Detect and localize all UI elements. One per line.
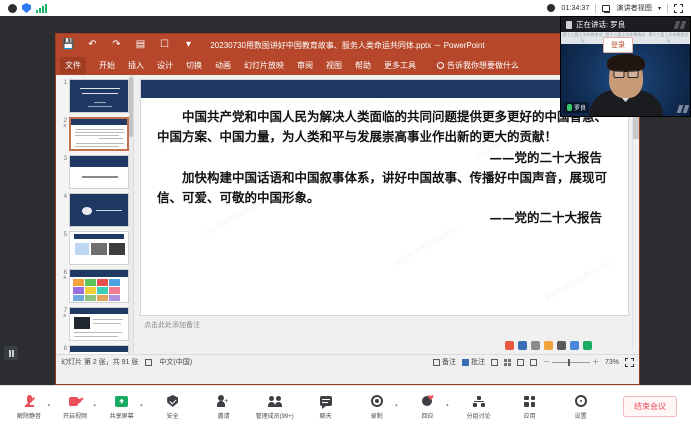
speaker-video-header: 正在讲话: 罗良 bbox=[561, 17, 690, 32]
apps-button[interactable]: 应用 bbox=[513, 394, 547, 420]
undo-icon[interactable]: ↶ bbox=[86, 39, 99, 52]
signal-icon[interactable] bbox=[36, 4, 47, 13]
ribbon-tab-animations[interactable]: 动画 bbox=[215, 60, 231, 71]
chat-button[interactable]: 聊天 bbox=[309, 394, 343, 420]
chevron-up-icon[interactable]: ▴ bbox=[140, 402, 143, 408]
zoom-slider[interactable]: － ＋ bbox=[543, 357, 599, 367]
breakout-rooms-icon bbox=[473, 394, 485, 409]
ribbon-tab-transitions[interactable]: 切换 bbox=[186, 60, 202, 71]
app-left-strip bbox=[0, 16, 55, 385]
share-screen-icon bbox=[115, 394, 128, 409]
ribbon-tab-bar: 文件 开始 插入 设计 切换 动画 幻灯片放映 审阅 视图 帮助 更多工具 告诉… bbox=[56, 56, 639, 75]
ribbon-tab-more-tools[interactable]: 更多工具 bbox=[384, 60, 416, 71]
system-bar-right-controls: 01:34:37 演讲者视图 ▾ bbox=[547, 3, 691, 13]
thumbnail-item-6[interactable]: 6★ bbox=[58, 269, 131, 303]
slide-counter: 幻灯片 第 2 张，共 91 张 bbox=[61, 357, 138, 367]
thumbnail-preview[interactable] bbox=[69, 231, 129, 265]
save-icon[interactable]: 💾 bbox=[62, 39, 75, 52]
more-icon[interactable]: ▾ bbox=[182, 39, 195, 52]
sign-in-button[interactable]: 登录 bbox=[603, 37, 633, 53]
shield-icon[interactable] bbox=[22, 3, 31, 13]
notes-label: 备注 bbox=[442, 357, 456, 367]
divider bbox=[595, 4, 596, 13]
star-icon: ★ bbox=[58, 276, 67, 281]
redo-icon[interactable]: ↷ bbox=[110, 39, 123, 52]
screen-root: 01:34:37 演讲者视图 ▾ 💾 ↶ ↷ ▤ ☐ ▾ 20230730用数图… bbox=[0, 0, 691, 427]
powerpoint-status-bar: 幻灯片 第 2 张，共 91 张 中文(中国) 备注 批注 bbox=[56, 354, 639, 369]
video-layout-icon[interactable] bbox=[675, 21, 685, 29]
chevron-up-icon[interactable]: ▴ bbox=[446, 402, 449, 408]
notes-placeholder[interactable]: 点击此处添加备注 bbox=[140, 320, 629, 330]
security-label: 安全 bbox=[167, 411, 179, 420]
system-status-bar: 01:34:37 演讲者视图 ▾ bbox=[0, 0, 691, 16]
divider bbox=[667, 4, 668, 13]
present-icon[interactable]: ▤ bbox=[134, 39, 147, 52]
speaking-label: 正在讲话: 罗良 bbox=[576, 19, 625, 30]
thumbnail-item-1[interactable]: 1 bbox=[58, 79, 131, 113]
share-screen-button[interactable]: 共享屏幕 ▴ bbox=[105, 394, 139, 420]
thumbnail-number: 5 bbox=[58, 231, 67, 238]
thumbnail-number: 4 bbox=[58, 193, 67, 200]
slide-editing-area: 教育部教育管理信息中心 教育部教育管理信息中心 教育部教育管理信息中心 教育部教… bbox=[134, 75, 639, 369]
ribbon-tab-file[interactable]: 文件 bbox=[60, 57, 86, 74]
ribbon-tab-design[interactable]: 设计 bbox=[157, 60, 173, 71]
participants-label: 管理成员(99+) bbox=[256, 411, 294, 420]
video-corner-marks bbox=[678, 105, 688, 113]
camera-off-icon bbox=[69, 394, 82, 409]
slide-attribution-1: ——党的二十大报告 bbox=[157, 148, 612, 168]
meeting-controls-center: 共享屏幕 ▴ 安全 + 邀请 管理成员(99+) bbox=[105, 394, 598, 420]
clock-icon bbox=[547, 4, 555, 12]
video-banner-text: 第十三届上半年教育论坛 bbox=[647, 32, 690, 44]
zoom-level[interactable]: 73% bbox=[605, 359, 619, 366]
language-indicator[interactable]: 中文(中国) bbox=[159, 357, 192, 367]
quick-access-toolbar: 💾 ↶ ↷ ▤ ☐ ▾ bbox=[62, 39, 195, 52]
thumbnail-number: 2★ bbox=[58, 117, 67, 129]
chevron-up-icon[interactable]: ▴ bbox=[47, 402, 50, 408]
invite-button[interactable]: + 邀请 bbox=[207, 394, 241, 420]
status-right-controls: 备注 批注 － ＋ 73% bbox=[433, 357, 634, 367]
shield-icon bbox=[167, 394, 178, 409]
chat-icon bbox=[320, 394, 332, 409]
participants-icon bbox=[268, 394, 282, 409]
thumbnail-number: 3 bbox=[58, 155, 67, 162]
start-video-label: 开启视频 bbox=[63, 411, 87, 420]
slide-attribution-2: ——党的二十大报告 bbox=[157, 208, 612, 228]
slide-vertical-scrollbar[interactable]: ▲ bbox=[632, 79, 638, 347]
apps-icon bbox=[524, 394, 535, 409]
chevron-down-icon[interactable]: ▾ bbox=[658, 5, 661, 12]
participant-name: 罗良 bbox=[574, 103, 586, 112]
zoom-handle[interactable] bbox=[568, 359, 570, 366]
comments-label: 批注 bbox=[471, 357, 485, 367]
info-icon[interactable] bbox=[8, 4, 17, 13]
video-banner-text: 第十三届上半年教育论坛 bbox=[561, 32, 604, 44]
system-bar-left-icons bbox=[0, 3, 47, 13]
meeting-controls-left: 解除静音 ▴ 开启视频 ▴ bbox=[0, 394, 92, 420]
apps-label: 应用 bbox=[524, 411, 536, 420]
punctuation-icon[interactable] bbox=[531, 341, 540, 350]
floating-annotation-toolbar[interactable] bbox=[502, 339, 595, 352]
thumbnail-preview-selected[interactable] bbox=[69, 117, 129, 151]
tell-me-label: 告诉我你想要做什么 bbox=[447, 60, 519, 71]
participants-button[interactable]: 管理成员(99+) bbox=[258, 394, 292, 420]
reactions-icon bbox=[422, 394, 434, 409]
ime-indicator-icon[interactable] bbox=[518, 341, 527, 350]
voice-input-icon[interactable] bbox=[557, 341, 566, 350]
comments-button[interactable]: 批注 bbox=[462, 357, 485, 367]
record-icon bbox=[371, 394, 383, 409]
meeting-timer: 01:34:37 bbox=[561, 5, 589, 12]
powerpoint-window: 💾 ↶ ↷ ▤ ☐ ▾ 20230730用数图讲好中国教育故事、服务人类命运共同… bbox=[55, 33, 640, 385]
notes-button[interactable]: 备注 bbox=[433, 357, 456, 367]
thumbnail-number: 1 bbox=[58, 79, 67, 86]
gear-icon bbox=[575, 394, 587, 409]
thumbnail-item-3[interactable]: 3 bbox=[58, 155, 131, 189]
zoom-out-icon[interactable]: － bbox=[543, 357, 550, 367]
ribbon-tab-insert[interactable]: 插入 bbox=[128, 60, 144, 71]
thumbnail-preview[interactable] bbox=[69, 307, 129, 341]
unmute-label: 解除静音 bbox=[17, 411, 41, 420]
speaker-glasses bbox=[613, 70, 638, 78]
current-slide[interactable]: 教育部教育管理信息中心 教育部教育管理信息中心 教育部教育管理信息中心 教育部教… bbox=[140, 79, 629, 316]
pen-tool-icon[interactable] bbox=[505, 341, 514, 350]
chevron-up-icon[interactable]: ▴ bbox=[93, 402, 96, 408]
powerpoint-title-bar: 💾 ↶ ↷ ▤ ☐ ▾ 20230730用数图讲好中国教育故事、服务人类命运共同… bbox=[56, 34, 639, 56]
breakout-rooms-button[interactable]: 分组讨论 bbox=[462, 394, 496, 420]
thumbnail-preview[interactable] bbox=[69, 193, 129, 227]
security-button[interactable]: 安全 bbox=[156, 394, 190, 420]
sidebar-toggle-button[interactable] bbox=[4, 346, 18, 360]
start-video-button[interactable]: 开启视频 ▴ bbox=[58, 394, 92, 420]
unmute-button[interactable]: 解除静音 ▴ bbox=[12, 394, 46, 420]
zoom-track[interactable] bbox=[552, 362, 590, 363]
slide-top-band bbox=[141, 80, 628, 98]
slide-sorter-icon[interactable] bbox=[504, 359, 511, 366]
thumbnail-scrollbar[interactable] bbox=[129, 75, 133, 369]
presenter-view-label[interactable]: 演讲者视图 bbox=[616, 3, 652, 13]
ribbon-tab-help[interactable]: 帮助 bbox=[355, 60, 371, 71]
settings-label: 设置 bbox=[575, 411, 587, 420]
reactions-label: 回应 bbox=[422, 411, 434, 420]
star-icon: ★ bbox=[58, 124, 67, 129]
normal-view-icon[interactable] bbox=[491, 359, 498, 366]
thumbnail-item-7[interactable]: 7★ bbox=[58, 307, 131, 341]
slide-paragraph-1: 中国共产党和中国人民为解决人类面临的共同问题提供更多更好的中国智慧、中国方案、中… bbox=[157, 107, 612, 148]
thumbnail-number: 8 bbox=[58, 345, 67, 352]
mic-muted-icon bbox=[25, 394, 34, 409]
ribbon-tab-review[interactable]: 审阅 bbox=[297, 60, 313, 71]
invite-icon: + bbox=[217, 394, 230, 409]
speaker-name-badge: 罗良 bbox=[564, 102, 589, 113]
reactions-button[interactable]: 回应 ▴ bbox=[411, 394, 445, 420]
thumbnail-number: 6★ bbox=[58, 269, 67, 281]
end-meeting-button[interactable]: 结束会议 bbox=[623, 396, 677, 417]
thumbnail-item-2[interactable]: 2★ bbox=[58, 117, 131, 151]
speaker-icon bbox=[566, 21, 572, 29]
ribbon-tab-view[interactable]: 视图 bbox=[326, 60, 342, 71]
ribbon-tab-home[interactable]: 开始 bbox=[99, 60, 115, 71]
tell-me-search[interactable]: 告诉我你想要做什么 bbox=[437, 60, 519, 71]
thumbnail-item-5[interactable]: 5 bbox=[58, 231, 131, 265]
invite-label: 邀请 bbox=[218, 411, 230, 420]
slide-text-body[interactable]: 中国共产党和中国人民为解决人类面临的共同问题提供更多更好的中国智慧、中国方案、中… bbox=[141, 98, 628, 315]
thumbnail-preview[interactable] bbox=[69, 79, 129, 113]
notes-icon bbox=[433, 359, 440, 366]
thumbnail-preview[interactable] bbox=[69, 155, 129, 189]
share-screen-label: 共享屏幕 bbox=[110, 411, 134, 420]
star-icon: ★ bbox=[58, 314, 67, 319]
lightbulb-icon bbox=[437, 62, 444, 69]
emoji-icon[interactable] bbox=[544, 341, 553, 350]
thumbnail-item-4[interactable]: 4 bbox=[58, 193, 131, 227]
zoom-in-icon[interactable]: ＋ bbox=[592, 357, 599, 367]
fullscreen-icon[interactable] bbox=[674, 4, 683, 13]
meeting-controls-right: 结束会议 bbox=[623, 396, 691, 417]
chat-label: 聊天 bbox=[320, 411, 332, 420]
comment-icon bbox=[462, 359, 469, 366]
thumbnail-preview[interactable] bbox=[69, 269, 129, 303]
presenter-view-icon[interactable] bbox=[602, 5, 610, 12]
record-button[interactable]: 录制 ▴ bbox=[360, 394, 394, 420]
toolbox-icon[interactable] bbox=[583, 341, 592, 350]
accessibility-icon[interactable] bbox=[145, 359, 152, 366]
slide-paragraph-2: 加快构建中国话语和中国叙事体系，讲好中国故事、传播好中国声音，展现可信、可爱、可… bbox=[157, 168, 612, 209]
breakout-rooms-label: 分组讨论 bbox=[467, 411, 491, 420]
thumbnail-number: 7★ bbox=[58, 307, 67, 319]
mic-active-icon bbox=[567, 104, 572, 111]
ribbon-tab-slideshow[interactable]: 幻灯片放映 bbox=[244, 60, 284, 71]
slide-thumbnail-pane[interactable]: 1 2★ bbox=[56, 75, 134, 369]
keyboard-icon[interactable] bbox=[570, 341, 579, 350]
chevron-up-icon[interactable]: ▴ bbox=[395, 402, 398, 408]
slideshow-icon[interactable] bbox=[530, 359, 537, 366]
record-label: 录制 bbox=[371, 411, 383, 420]
powerpoint-body: 1 2★ bbox=[56, 75, 639, 369]
new-slide-icon[interactable]: ☐ bbox=[158, 39, 171, 52]
settings-button[interactable]: 设置 bbox=[564, 394, 598, 420]
reading-view-icon[interactable] bbox=[517, 359, 524, 366]
speaker-video-panel[interactable]: 正在讲话: 罗良 第十三届上半年教育论坛 第十三届上半年教育论坛 第十三届上半年… bbox=[560, 16, 691, 117]
meeting-control-bar: 解除静音 ▴ 开启视频 ▴ 共享屏幕 ▴ 安全 bbox=[0, 385, 691, 427]
fit-slide-icon[interactable] bbox=[625, 358, 634, 367]
